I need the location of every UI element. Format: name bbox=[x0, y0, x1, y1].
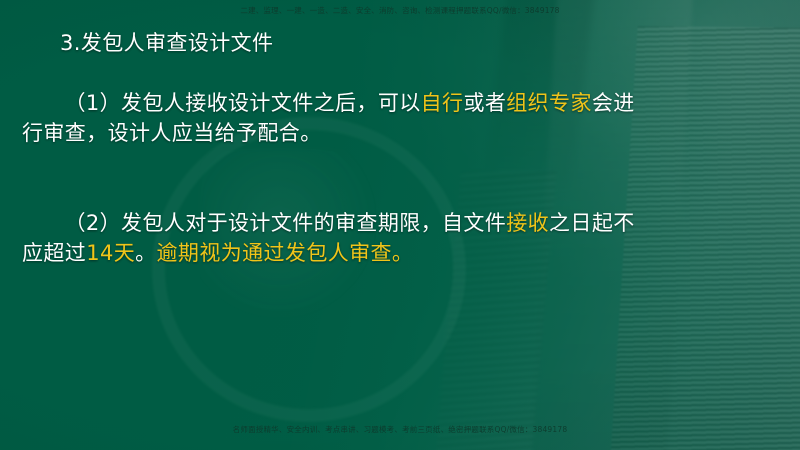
paragraph-item-2: （2）发包人对于设计文件的审查期限，自文件接收之日起不应超过14天。逾期视为通过… bbox=[22, 178, 642, 298]
item1-text-segment-1: （1）发包人接收设计文件之后，可以 bbox=[64, 91, 420, 115]
item2-highlight-receipt: 接收 bbox=[506, 211, 549, 235]
slide-body: 3.发包人审查设计文件 （1）发包人接收设计文件之后，可以自行或者组织专家会进行… bbox=[22, 28, 642, 298]
bottom-promo-banner: 名师面授精华、安全内训、考点串讲、习题模考、考前三页纸、绝密押题联系QQ/微信：… bbox=[0, 426, 800, 434]
top-promo-banner: 二建、监理、一建、一造、二造、安全、消防、咨询、检测课程押题联系QQ/微信：38… bbox=[0, 7, 800, 15]
item1-text-segment-2: 或者 bbox=[463, 91, 506, 115]
item2-highlight-deemed-approved: 逾期视为通过发包人审查。 bbox=[157, 241, 414, 265]
item2-text-segment-1: （2）发包人对于设计文件的审查期限，自文件 bbox=[64, 211, 506, 235]
slide-canvas: 二建、监理、一建、一造、二造、安全、消防、咨询、检测课程押题联系QQ/微信：38… bbox=[0, 0, 800, 450]
paragraph-item-1: （1）发包人接收设计文件之后，可以自行或者组织专家会进行审查，设计人应当给予配合… bbox=[22, 58, 642, 178]
item1-highlight-self-review: 自行 bbox=[421, 91, 464, 115]
item2-text-segment-3: 。 bbox=[135, 241, 156, 265]
section-heading: 3.发包人审查设计文件 bbox=[22, 28, 642, 58]
item2-highlight-14-days: 14天 bbox=[86, 241, 135, 265]
item1-highlight-expert-panel: 组织专家 bbox=[506, 91, 592, 115]
